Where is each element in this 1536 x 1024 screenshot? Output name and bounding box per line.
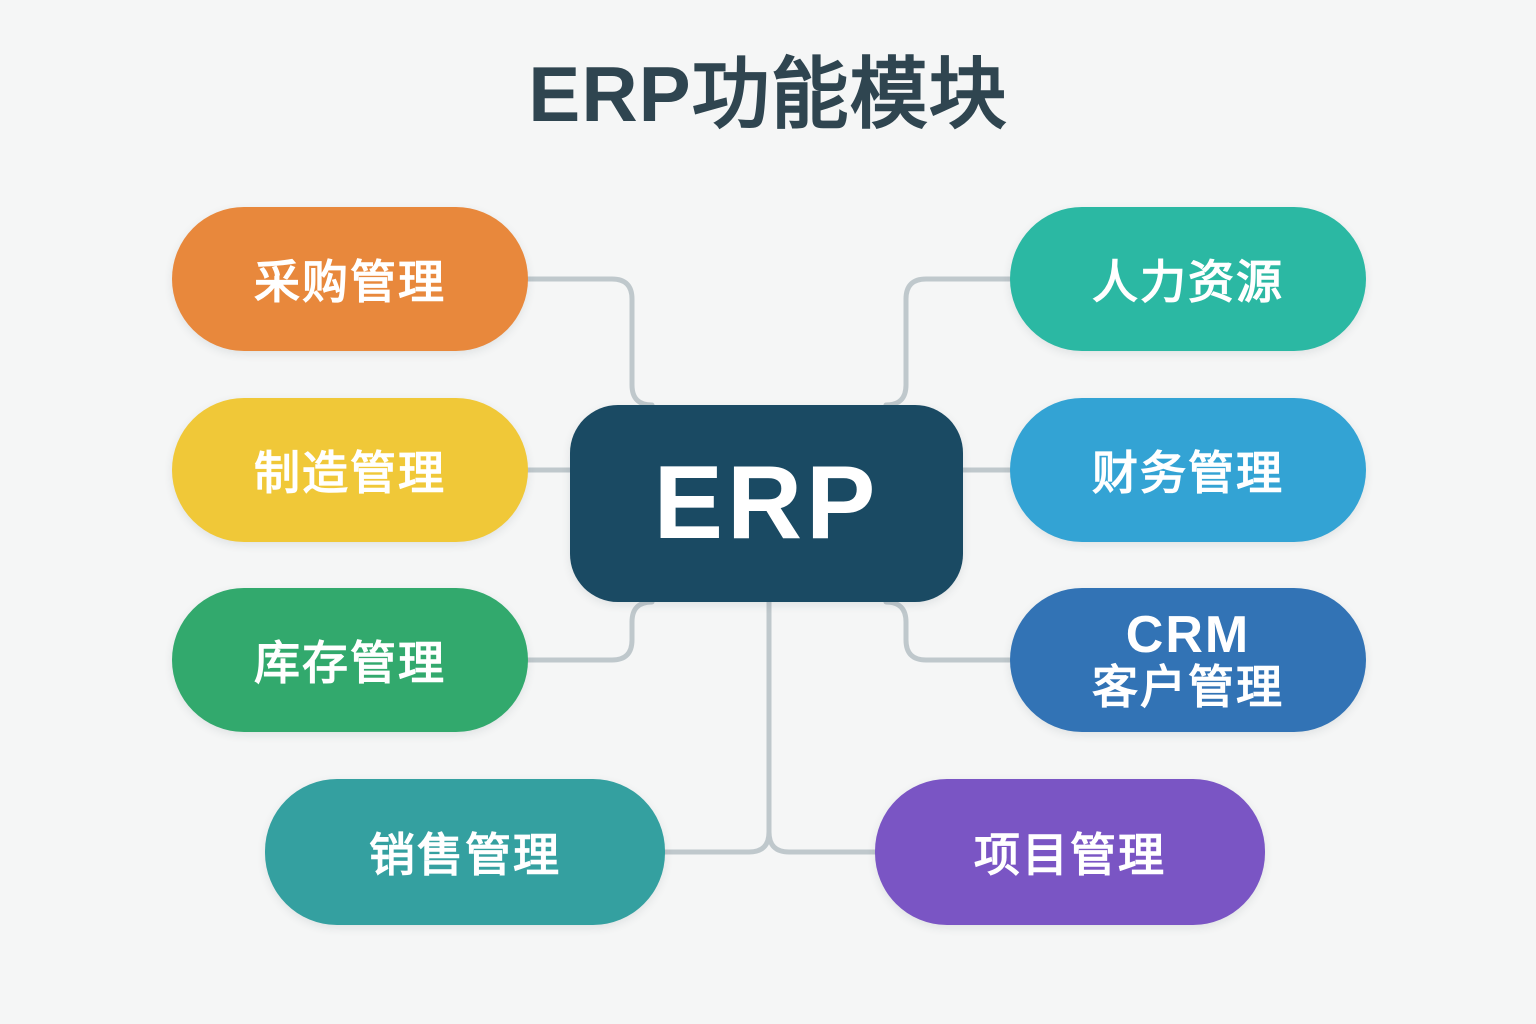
module-node-crm[interactable]: CRM 客户管理	[1010, 588, 1366, 732]
connector-bottom-trunk	[665, 602, 769, 852]
module-node-inventory[interactable]: 库存管理	[172, 588, 528, 732]
module-node-human-resources[interactable]: 人力资源	[1010, 207, 1366, 351]
module-label-project: 项目管理	[974, 819, 1166, 885]
connector-project	[769, 832, 875, 852]
module-label-sales: 销售管理	[369, 819, 561, 885]
diagram-canvas: ERP功能模块 ERP 采购管理 制造管理 库存管理	[0, 0, 1536, 1024]
page-title: ERP功能模块	[0, 52, 1536, 138]
module-label-manufacturing: 制造管理	[254, 437, 446, 503]
module-node-project[interactable]: 项目管理	[875, 779, 1265, 925]
module-sublabel-crm: 客户管理	[1092, 663, 1284, 712]
connector-human-resources	[886, 279, 1010, 405]
center-node-erp[interactable]: ERP	[570, 405, 963, 602]
module-label-crm: CRM	[1126, 608, 1250, 663]
center-node-label: ERP	[654, 444, 880, 563]
connector-crm	[886, 602, 1010, 660]
connector-procurement	[528, 279, 652, 405]
module-label-finance: 财务管理	[1092, 437, 1284, 503]
module-node-sales[interactable]: 销售管理	[265, 779, 665, 925]
module-node-manufacturing[interactable]: 制造管理	[172, 398, 528, 542]
connector-inventory	[528, 602, 652, 660]
module-node-procurement[interactable]: 采购管理	[172, 207, 528, 351]
module-label-inventory: 库存管理	[254, 627, 446, 693]
module-label-procurement: 采购管理	[254, 246, 446, 312]
module-label-human-resources: 人力资源	[1092, 246, 1284, 312]
module-node-finance[interactable]: 财务管理	[1010, 398, 1366, 542]
